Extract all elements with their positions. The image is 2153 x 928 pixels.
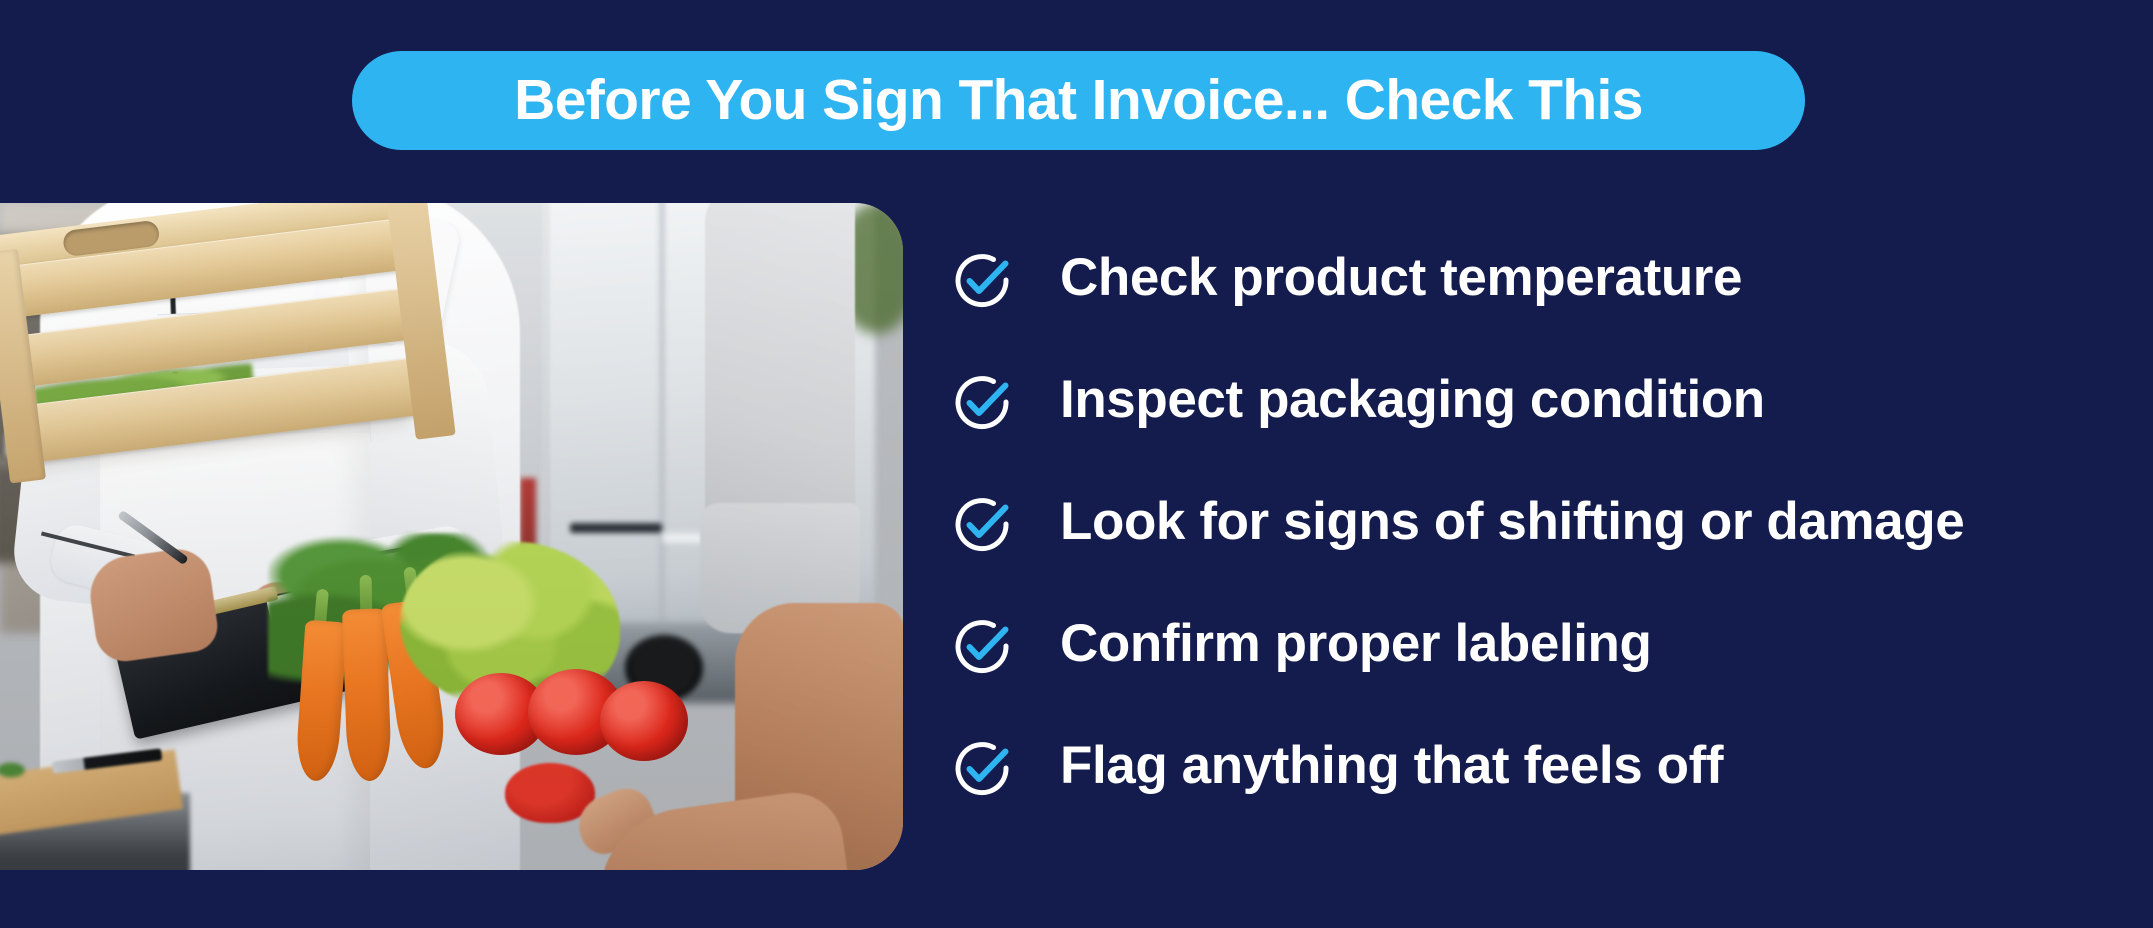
circle-check-icon — [952, 738, 1012, 798]
checklist-item-label: Look for signs of shifting or damage — [1060, 492, 1964, 552]
header-banner: Before You Sign That Invoice... Check Th… — [352, 51, 1805, 150]
checklist-item: Look for signs of shifting or damage — [952, 492, 2132, 614]
circle-check-icon — [952, 250, 1012, 310]
delivery-inspection-photo — [0, 203, 903, 870]
checklist-item-label: Check product temperature — [1060, 248, 1742, 308]
tomato — [600, 681, 688, 761]
checklist-item-label: Confirm proper labeling — [1060, 614, 1652, 674]
checklist-item-label: Inspect packaging condition — [1060, 370, 1765, 430]
chef-hand-writing — [85, 545, 220, 665]
circle-check-icon — [952, 494, 1012, 554]
checklist-item: Flag anything that feels off — [952, 736, 2132, 858]
wooden-produce-crate — [0, 203, 457, 529]
circle-check-icon — [952, 372, 1012, 432]
checklist-item: Check product temperature — [952, 248, 2132, 370]
van-door-seam — [660, 203, 664, 663]
checklist-item: Confirm proper labeling — [952, 614, 2132, 736]
checklist-item: Inspect packaging condition — [952, 370, 2132, 492]
van-door-handle — [570, 523, 662, 533]
circle-check-icon — [952, 616, 1012, 676]
banner-title: Before You Sign That Invoice... Check Th… — [514, 72, 1643, 129]
infographic-canvas: Before You Sign That Invoice... Check Th… — [0, 0, 2153, 928]
checklist-item-label: Flag anything that feels off — [1060, 736, 1723, 796]
inspection-checklist: Check product temperature Inspect packag… — [952, 248, 2132, 858]
fresh-herbs — [0, 761, 28, 779]
